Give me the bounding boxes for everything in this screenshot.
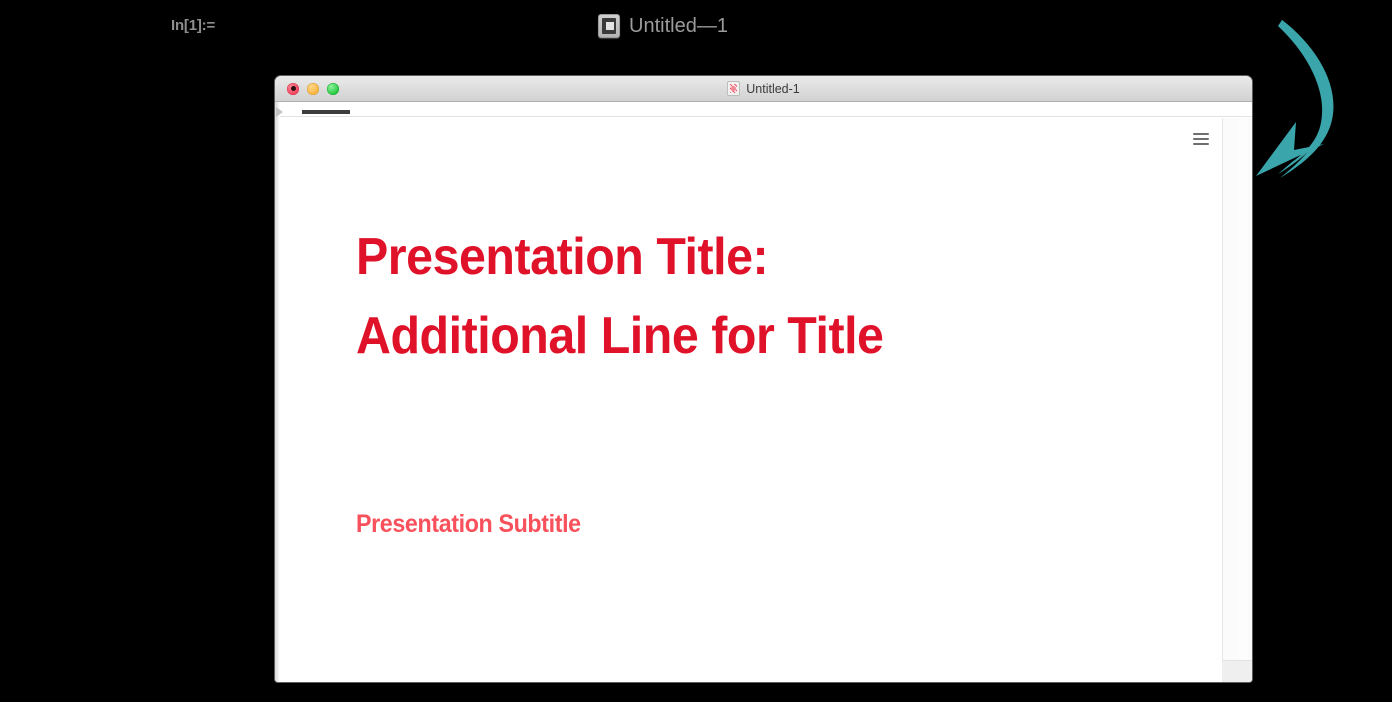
notebook-document-icon [598,14,620,38]
screenshot-root: In[1]:= Untitled—1 Untitled-1 [0,0,1392,702]
notebook-document-title: Untitled—1 [629,15,728,38]
vertical-scrollbar[interactable] [1222,118,1252,682]
wolfram-notebook-icon [727,81,740,96]
window-traffic-lights [287,83,339,95]
scrollbar-bottom-cap [1222,660,1252,682]
window-title: Untitled-1 [746,82,800,96]
curved-arrow-pointing-to-window [1238,4,1392,204]
slide-canvas[interactable]: Presentation Title: Additional Line for … [280,118,1222,682]
vertical-scrollbar-thumb[interactable] [1239,118,1248,678]
minimize-button[interactable] [307,83,319,95]
close-button[interactable] [287,83,299,95]
hamburger-menu-icon[interactable] [1193,133,1209,145]
notebook-document-tag: Untitled—1 [598,14,728,38]
window-title-group: Untitled-1 [727,81,800,96]
slide-subtitle[interactable]: Presentation Subtitle [356,511,581,539]
notebook-window[interactable]: Untitled-1 Presentation Title: Additiona… [275,76,1252,682]
collapsed-cell-indicator[interactable] [302,110,350,114]
zoom-button[interactable] [327,83,339,95]
hamburger-line-3 [1193,143,1209,145]
hamburger-line-2 [1193,138,1209,140]
notebook-body: Presentation Title: Additional Line for … [275,102,1252,682]
cell-divider [280,116,1252,117]
hamburger-line-1 [1193,133,1209,135]
notebook-input-label: In[1]:= [171,17,215,34]
slide-title[interactable]: Presentation Title: Additional Line for … [356,218,883,376]
window-titlebar[interactable]: Untitled-1 [275,76,1252,102]
